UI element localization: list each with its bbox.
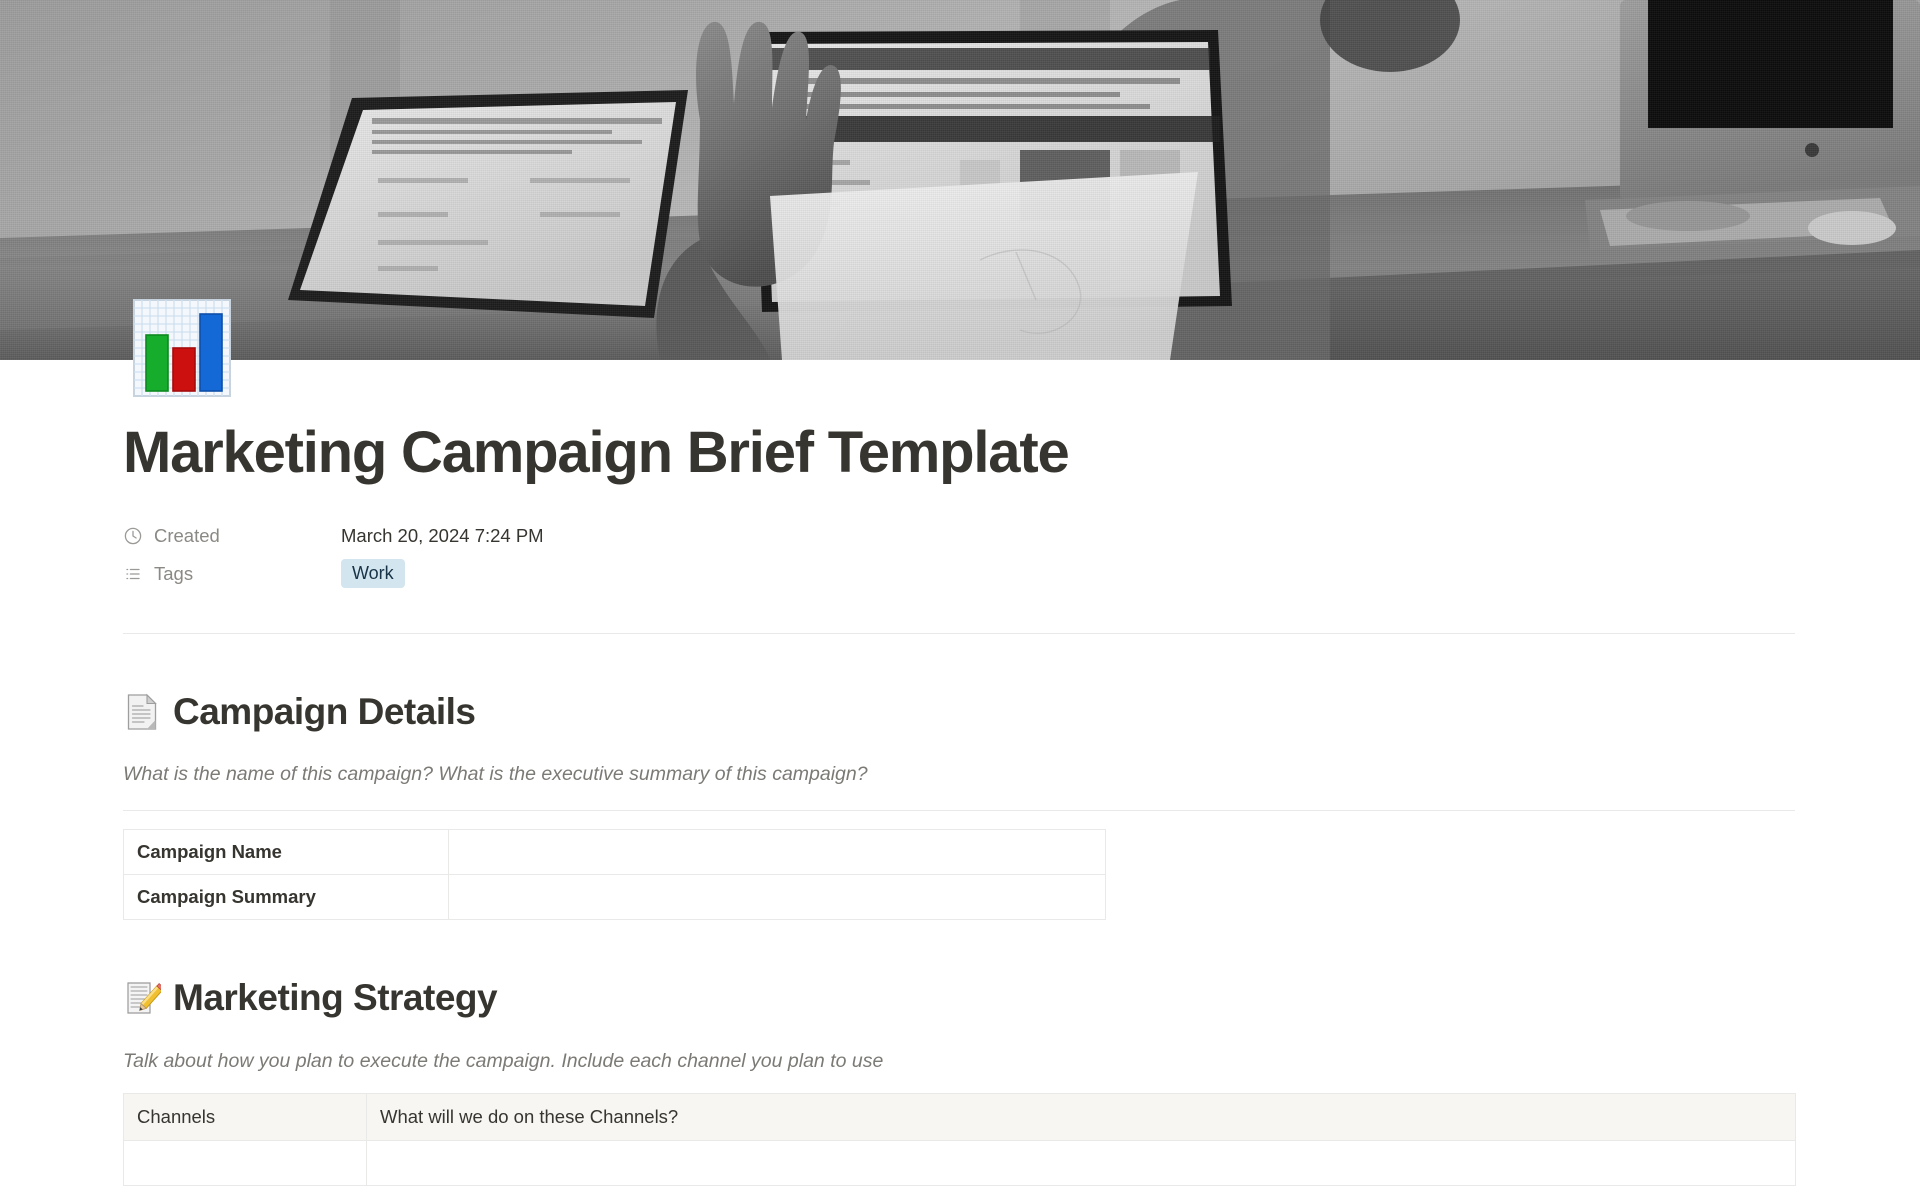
cover-photo [0, 0, 1920, 360]
property-value-created[interactable]: March 20, 2024 7:24 PM [341, 525, 544, 547]
property-row-created[interactable]: Created March 20, 2024 7:24 PM [123, 517, 1795, 555]
section-title-marketing-strategy: Marketing Strategy [173, 976, 497, 1020]
table-cell-channel[interactable] [124, 1141, 367, 1186]
page-title[interactable]: Marketing Campaign Brief Template [123, 422, 1795, 491]
table-header-row: Channels What will we do on these Channe… [124, 1094, 1796, 1141]
section-marketing-strategy: Marketing Strategy Talk about how you pl… [123, 976, 1795, 1186]
page-properties: Created March 20, 2024 7:24 PM [123, 517, 1795, 593]
table-row[interactable]: Campaign Name [124, 830, 1106, 875]
table-cell-value[interactable] [449, 875, 1106, 920]
section-divider-campaign-details [123, 810, 1795, 811]
section-heading-marketing-strategy[interactable]: Marketing Strategy [123, 976, 1795, 1020]
page-cover[interactable] [0, 0, 1920, 360]
table-row[interactable]: Campaign Summary [124, 875, 1106, 920]
property-row-tags[interactable]: Tags Work [123, 555, 1795, 593]
section-heading-campaign-details[interactable]: Campaign Details [123, 690, 1795, 734]
table-row[interactable] [124, 1141, 1796, 1186]
memo-emoji [123, 980, 161, 1018]
table-cell-label[interactable]: Campaign Name [124, 830, 449, 875]
page-facing-up-emoji [123, 693, 161, 731]
table-cell-label[interactable]: Campaign Summary [124, 875, 449, 920]
bar-chart-emoji[interactable] [132, 298, 232, 398]
section-description-marketing-strategy: Talk about how you plan to execute the c… [123, 1048, 1795, 1075]
table-cell-value[interactable] [449, 830, 1106, 875]
list-icon [123, 564, 143, 584]
marketing-channels-table: Channels What will we do on these Channe… [123, 1093, 1796, 1186]
clock-icon [123, 526, 143, 546]
property-value-tags[interactable]: Work [341, 559, 405, 589]
property-label-tags[interactable]: Tags [123, 563, 341, 585]
page-body: Marketing Campaign Brief Template Create… [0, 422, 1920, 1186]
table-column-header-channels[interactable]: Channels [124, 1094, 367, 1141]
table-cell-plan[interactable] [367, 1141, 1796, 1186]
property-label-created[interactable]: Created [123, 525, 341, 547]
header-divider [123, 633, 1795, 634]
section-campaign-details: Campaign Details What is the name of thi… [123, 690, 1795, 921]
table-column-header-plan[interactable]: What will we do on these Channels? [367, 1094, 1796, 1141]
section-title-campaign-details: Campaign Details [173, 690, 475, 734]
property-name-created: Created [154, 525, 220, 547]
section-description-campaign-details: What is the name of this campaign? What … [123, 761, 1795, 788]
campaign-details-table: Campaign Name Campaign Summary [123, 829, 1106, 920]
status-badge-work[interactable]: Work [341, 559, 405, 589]
property-name-tags: Tags [154, 563, 193, 585]
